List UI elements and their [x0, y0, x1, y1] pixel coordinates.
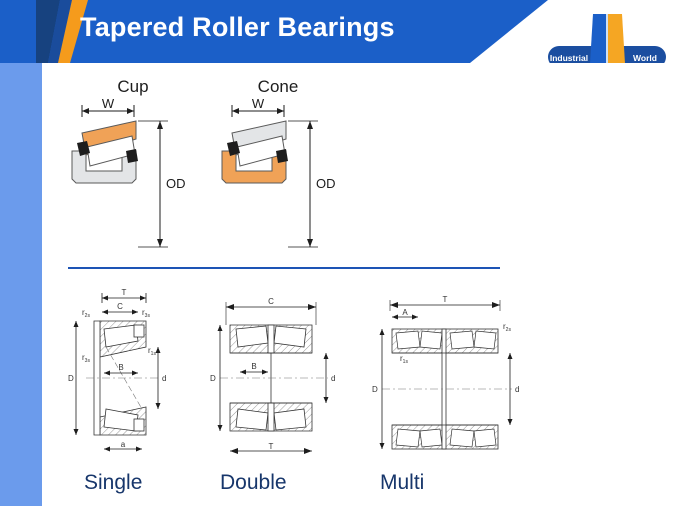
multi-caption: Multi	[380, 471, 510, 495]
diagram-multi: T A r2s r1s	[360, 285, 535, 515]
double-dim-D: D	[210, 374, 216, 383]
multi-roller-u2	[420, 331, 442, 349]
cup-od-label: OD	[166, 176, 186, 191]
multi-roller-l4	[474, 429, 496, 447]
multi-radius-r2s: r2s	[503, 322, 511, 333]
multi-dim-T: T	[443, 295, 448, 304]
cone-width-label: W	[252, 99, 265, 111]
double-dim-d: d	[331, 374, 335, 383]
multi-roller-l3	[450, 429, 474, 447]
single-dim-B: B	[118, 363, 123, 372]
multi-roller-u3	[450, 331, 474, 349]
double-roller-upper-left	[236, 326, 268, 347]
cup-caption: Cup	[98, 77, 168, 97]
single-dim-T: T	[122, 288, 127, 297]
diagram-cup: Cup W OD	[60, 77, 210, 262]
single-radius-r1s: r1s	[148, 346, 156, 357]
double-spacer-lower	[268, 403, 274, 431]
double-roller-lower-left	[236, 409, 268, 430]
multi-drawing: T A r2s r1s	[360, 285, 535, 465]
cup-width-label: W	[102, 99, 115, 111]
double-roller-lower-right	[274, 409, 306, 430]
single-rib-upper	[134, 325, 144, 337]
slide-content: Cup W OD Cone	[42, 63, 700, 516]
page-title: Tapered Roller Bearings	[80, 12, 395, 43]
multi-radius-r1s: r1s	[400, 354, 408, 365]
single-radius-r2s: r2s	[82, 308, 90, 319]
single-drawing: T C r2s r3s	[60, 285, 200, 465]
double-dim-T: T	[269, 442, 274, 451]
multi-roller-u1	[396, 331, 420, 349]
multi-roller-u4	[474, 331, 496, 349]
section-divider	[68, 267, 500, 269]
double-caption: Double	[220, 471, 350, 495]
left-accent-rail	[0, 63, 42, 506]
double-spacer-upper	[268, 325, 274, 353]
double-dim-B: B	[251, 362, 256, 371]
single-dim-a: a	[121, 440, 126, 449]
diagram-cone: Cone W OD	[210, 77, 360, 262]
single-rib-lower	[134, 419, 144, 431]
cup-cage-right	[126, 149, 138, 163]
multi-dim-d: d	[515, 385, 519, 394]
single-radius-r3s-left: r3s	[82, 353, 90, 364]
cone-od-label: OD	[316, 176, 336, 191]
double-roller-upper-right	[274, 326, 306, 347]
multi-roller-l1	[396, 429, 420, 447]
cone-caption: Cone	[238, 77, 318, 97]
double-dim-C: C	[268, 297, 274, 306]
single-dim-C: C	[117, 302, 123, 311]
single-dim-D: D	[68, 374, 74, 383]
multi-dim-A: A	[402, 308, 408, 317]
diagram-double: C D	[200, 285, 350, 515]
logo-right-word: World	[633, 53, 657, 63]
single-dim-d: d	[162, 374, 166, 383]
cone-cage-right	[276, 149, 288, 163]
single-radius-r3s-top: r3s	[142, 308, 150, 319]
multi-roller-l2	[420, 429, 442, 447]
diagram-single: T C r2s r3s	[60, 285, 200, 515]
logo-left-word: Industrial	[550, 53, 588, 63]
double-drawing: C D	[200, 285, 350, 465]
multi-dim-D: D	[372, 385, 378, 394]
single-caption: Single	[84, 471, 204, 495]
cup-drawing: W OD	[60, 99, 210, 264]
cone-drawing: W OD	[210, 99, 360, 264]
